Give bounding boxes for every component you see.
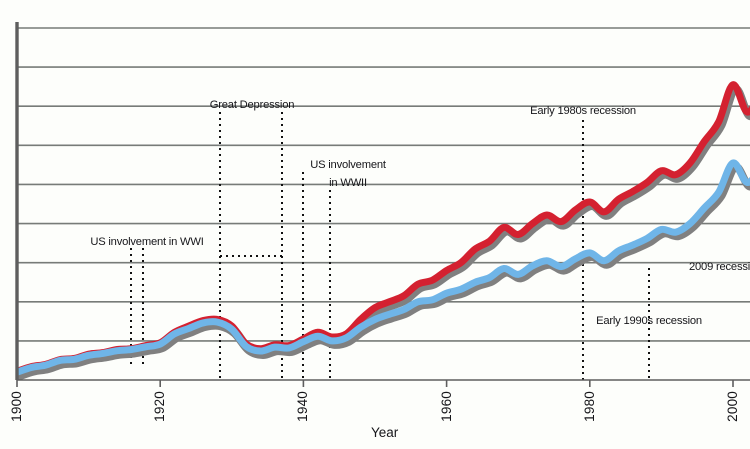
x-tick-label-1980: 1980 bbox=[582, 391, 597, 422]
x-tick-label-1920: 1920 bbox=[152, 391, 167, 422]
chart-figure: Great Depression US involvement in WWII … bbox=[0, 0, 750, 449]
annotation-wwi: US involvement in WWI bbox=[90, 236, 203, 248]
annotation-wwii-line2: in WWII bbox=[329, 177, 367, 189]
annotation-2009-recession: 2009 recession bbox=[689, 261, 750, 273]
annotation-early-1990s-recession: Early 1990s recession bbox=[596, 315, 702, 327]
x-tick-label-1900: 1900 bbox=[9, 391, 24, 422]
annotation-wwii-line1: US involvement bbox=[310, 159, 386, 171]
annotation-great-depression: Great Depression bbox=[210, 99, 294, 111]
x-axis-title: Year bbox=[371, 425, 398, 440]
x-tick-label-1960: 1960 bbox=[439, 391, 454, 422]
chart-canvas bbox=[0, 0, 750, 449]
x-tick-label-2000: 2000 bbox=[725, 391, 740, 422]
x-tick-label-1940: 1940 bbox=[295, 391, 310, 422]
annotation-early-1980s-recession: Early 1980s recession bbox=[530, 105, 636, 117]
